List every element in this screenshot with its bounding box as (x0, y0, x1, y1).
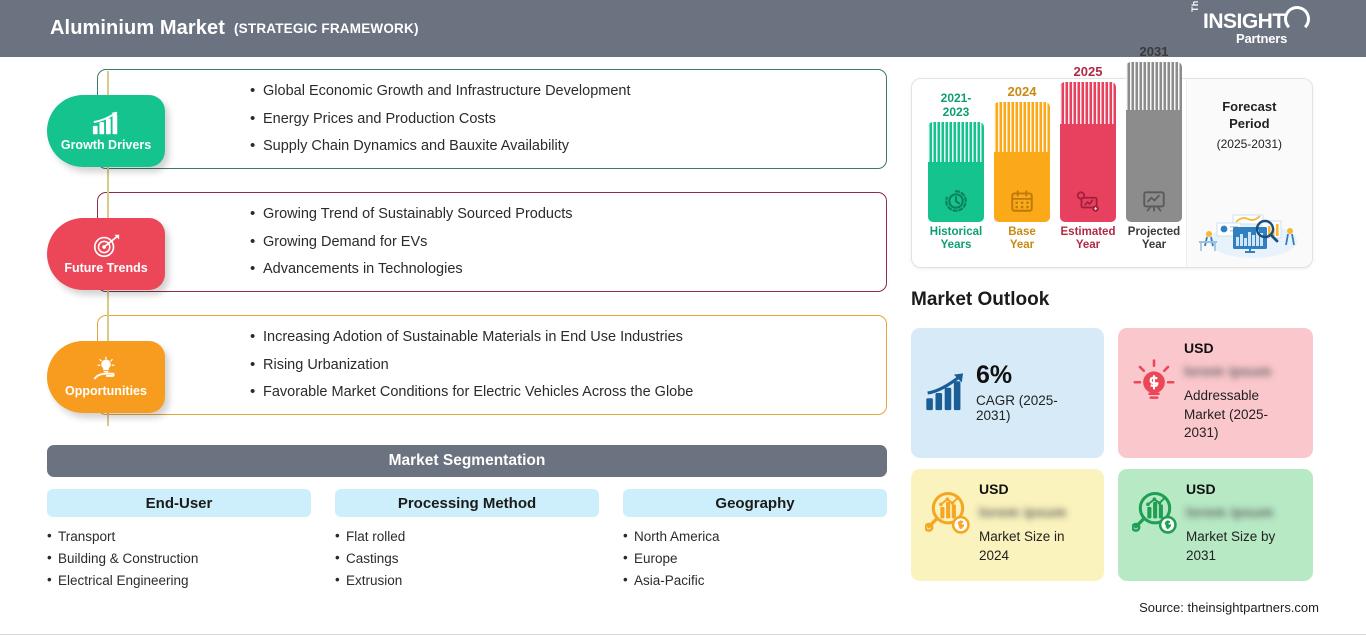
badge-label: Opportunities (65, 384, 147, 398)
bar (994, 102, 1050, 222)
segment-header: Geography (623, 489, 887, 517)
logo-the: The (1190, 0, 1200, 12)
badge-label: Future Trends (64, 261, 147, 275)
market-size-2031-body: USD lorem ipsum Market Size by 2031 (1186, 481, 1299, 569)
opportunities-box: Increasing Adotion of Sustainable Materi… (97, 315, 887, 415)
infographic-page: Aluminium Market (STRATEGIC FRAMEWORK) T… (0, 0, 1366, 635)
forecast-range: (2025-2031) (1187, 137, 1312, 151)
card-caption: Market Size by 2031 (1186, 528, 1299, 565)
bar-caption-line1: Estimated (1060, 226, 1116, 239)
bar-stripes (1126, 62, 1182, 110)
segment-header: Processing Method (335, 489, 599, 517)
bar (928, 122, 984, 222)
badge-growth-drivers[interactable]: Growth Drivers (47, 95, 165, 167)
bar-caption-line1: Base (994, 226, 1050, 239)
list-item: Flat rolled (335, 529, 599, 544)
future-trends-bullets: Growing Trend of Sustainably Sourced Pro… (250, 207, 886, 277)
cagr-caption: CAGR (2025-2031) (976, 393, 1090, 423)
forecast-title-line1: Forecast (1187, 99, 1312, 116)
list-item: Building & Construction (47, 551, 311, 566)
page-subtitle: (STRATEGIC FRAMEWORK) (234, 21, 419, 36)
badge-future-trends[interactable]: Future Trends (47, 218, 165, 290)
framework-column: Global Economic Growth and Infrastructur… (0, 57, 905, 635)
analytics-gear-icon (1075, 188, 1101, 214)
list-item: Electrical Engineering (47, 573, 311, 588)
target-dartboard-icon (91, 233, 121, 259)
bar-group-base: 2024 Ba (994, 84, 1050, 252)
bar-year-label: 2025 (1060, 64, 1116, 79)
bar-chart-arrow-icon (925, 373, 967, 413)
circle-arc-icon (1284, 6, 1310, 32)
value-placeholder: lorem ipsum (979, 504, 1067, 520)
list-item: Asia-Pacific (623, 573, 887, 588)
list-item: Transport (47, 529, 311, 544)
card-caption: Market Size in 2024 (979, 528, 1090, 565)
list-item: Supply Chain Dynamics and Bauxite Availa… (250, 139, 886, 154)
future-trends-box: Growing Trend of Sustainably Sourced Pro… (97, 192, 887, 292)
list-item: Energy Prices and Production Costs (250, 112, 886, 127)
market-size-2024-body: USD lorem ipsum Market Size in 2024 (979, 481, 1090, 569)
list-item: Castings (335, 551, 599, 566)
timeline-bars: 2021-2023 Historical Years (912, 79, 1186, 267)
magnifier-chart-dollar-icon (925, 489, 971, 535)
bar-chart-growth-icon (91, 110, 121, 136)
forecast-title-line2: Period (1187, 116, 1312, 133)
market-outlook-title: Market Outlook (911, 289, 1049, 311)
badge-label: Growth Drivers (61, 138, 151, 152)
card-caption: Addressable Market (2025-2031) (1184, 387, 1299, 443)
page-title: Aluminium Market (50, 17, 225, 40)
hand-lightbulb-icon (91, 356, 121, 382)
bar-caption: Historical Years (928, 226, 984, 252)
list-item: Increasing Adotion of Sustainable Materi… (250, 330, 886, 345)
bar-year-label: 2021-2023 (928, 91, 984, 119)
outlook-card-addressable-market: USD lorem ipsum Addressable Market (2025… (1118, 328, 1313, 458)
bar (1060, 82, 1116, 222)
bar-stripes (928, 122, 984, 162)
list-item: Extrusion (335, 573, 599, 588)
analytics-dashboard-illustration (1195, 197, 1307, 259)
outlook-column: 2021-2023 Historical Years (905, 57, 1366, 635)
bar-stripes (994, 102, 1050, 152)
bar-caption-line1: Projected (1126, 226, 1182, 239)
magnifier-chart-dollar-icon (1132, 489, 1178, 535)
opportunities-bullets: Increasing Adotion of Sustainable Materi… (250, 330, 886, 400)
cagr-value: 6% (976, 363, 1090, 388)
growth-drivers-box: Global Economic Growth and Infrastructur… (97, 69, 887, 169)
calendar-icon (1009, 188, 1035, 214)
list-item: Advancements in Technologies (250, 262, 886, 277)
segmentation-column-geography: Geography North America Europe Asia-Paci… (623, 489, 887, 595)
clock-history-icon (943, 188, 969, 214)
badge-opportunities[interactable]: Opportunities (47, 341, 165, 413)
bar-year-label: 2031 (1126, 44, 1182, 59)
currency-label: USD (1184, 340, 1299, 356)
outlook-card-market-size-2031: USD lorem ipsum Market Size by 2031 (1118, 469, 1313, 581)
outlook-card-market-size-2024: USD lorem ipsum Market Size in 2024 (911, 469, 1104, 581)
market-segmentation-title: Market Segmentation (47, 445, 887, 477)
bar-caption-line2: Year (994, 239, 1050, 252)
list-item: Europe (623, 551, 887, 566)
list-item: Global Economic Growth and Infrastructur… (250, 84, 886, 99)
bar-caption: Base Year (994, 226, 1050, 252)
list-item: Growing Demand for EVs (250, 235, 886, 250)
bar-group-estimated: 2025 Estimated Year (1060, 64, 1116, 252)
forecast-period-chart: 2021-2023 Historical Years (911, 78, 1313, 268)
bar-group-projected: 2031 Projected Year (1126, 44, 1182, 252)
segmentation-columns: End-User Transport Building & Constructi… (47, 489, 887, 595)
segmentation-column-end-user: End-User Transport Building & Constructi… (47, 489, 311, 595)
currency-label: USD (1186, 481, 1299, 497)
addressable-body: USD lorem ipsum Addressable Market (2025… (1184, 340, 1299, 446)
value-placeholder: lorem ipsum (1186, 504, 1274, 520)
forecast-period-panel: Forecast Period (2025-2031) (1186, 79, 1312, 267)
bar-stripes (1060, 82, 1116, 124)
bar-caption: Estimated Year (1060, 226, 1116, 252)
segment-items: North America Europe Asia-Pacific (623, 529, 887, 588)
logo-partners: Partners (1236, 31, 1287, 46)
segment-header: End-User (47, 489, 311, 517)
currency-label: USD (979, 481, 1090, 497)
list-item: Growing Trend of Sustainably Sourced Pro… (250, 207, 886, 222)
cagr-body: 6% CAGR (2025-2031) (976, 363, 1090, 423)
segment-items: Transport Building & Construction Electr… (47, 529, 311, 588)
bar-caption-line1: Historical (928, 226, 984, 239)
list-item: North America (623, 529, 887, 544)
monitor-chart-icon (1141, 188, 1167, 214)
segmentation-column-processing-method: Processing Method Flat rolled Castings E… (335, 489, 599, 595)
outlook-card-cagr: 6% CAGR (2025-2031) (911, 328, 1104, 458)
lightbulb-dollar-icon (1132, 358, 1176, 404)
list-item: Favorable Market Conditions for Electric… (250, 385, 886, 400)
insight-partners-logo: The INSIGHT Partners (1190, 6, 1308, 52)
bar-caption: Projected Year (1126, 226, 1182, 252)
bar-caption-line2: Year (1126, 239, 1182, 252)
source-attribution: Source: theinsightpartners.com (1139, 600, 1319, 615)
list-item: Rising Urbanization (250, 358, 886, 373)
bar-caption-line2: Year (1060, 239, 1116, 252)
bar (1126, 62, 1182, 222)
value-placeholder: lorem ipsum (1184, 363, 1272, 379)
segment-items: Flat rolled Castings Extrusion (335, 529, 599, 588)
bar-caption-line2: Years (928, 239, 984, 252)
bar-group-historical: 2021-2023 Historical Years (928, 91, 984, 252)
bar-year-label: 2024 (994, 84, 1050, 99)
growth-drivers-bullets: Global Economic Growth and Infrastructur… (250, 84, 886, 154)
